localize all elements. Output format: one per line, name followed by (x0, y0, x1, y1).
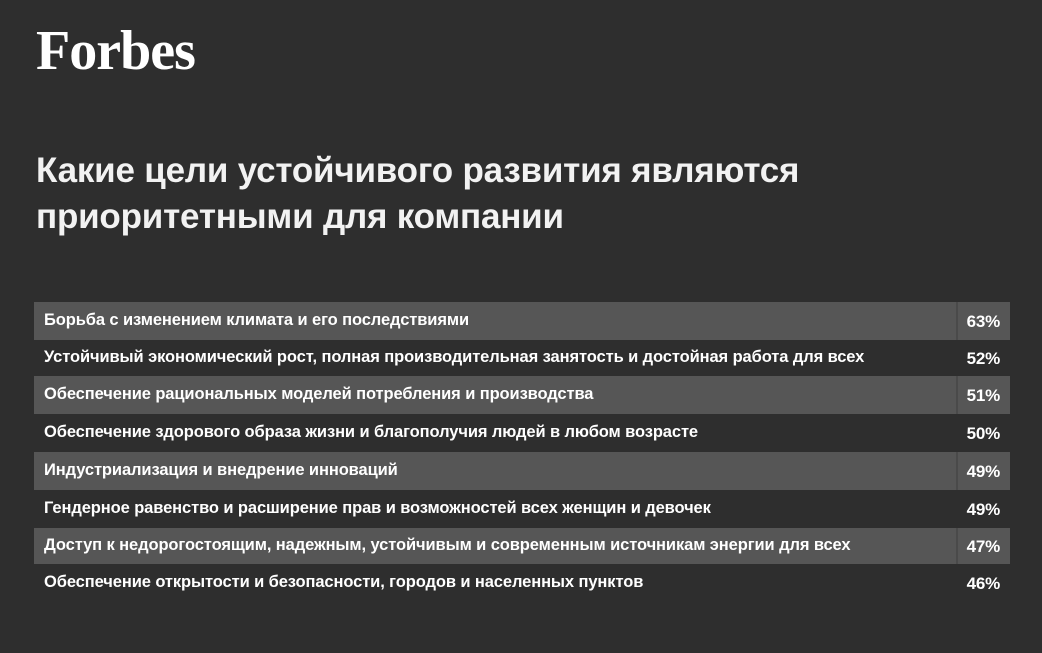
row-value: 51% (956, 376, 1010, 414)
row-label: Обеспечение здорового образа жизни и бла… (34, 414, 956, 452)
table-row: Гендерное равенство и расширение прав и … (34, 490, 1010, 528)
row-value: 49% (956, 490, 1010, 528)
infographic-page: Forbes Какие цели устойчивого развития я… (0, 0, 1042, 653)
priorities-table: Борьба с изменением климата и его послед… (34, 302, 1010, 602)
table-row: Обеспечение открытости и безопасности, г… (34, 564, 1010, 602)
row-label: Обеспечение рациональных моделей потребл… (34, 376, 956, 414)
row-label: Обеспечение открытости и безопасности, г… (34, 564, 956, 602)
table-row: Индустриализация и внедрение инноваций 4… (34, 452, 1010, 490)
row-value: 47% (956, 528, 1010, 564)
table-row: Обеспечение здорового образа жизни и бла… (34, 414, 1010, 452)
row-label: Доступ к недорогостоящим, надежным, усто… (34, 528, 956, 564)
table-row: Борьба с изменением климата и его послед… (34, 302, 1010, 340)
row-value: 49% (956, 452, 1010, 490)
page-title: Какие цели устойчивого развития являются… (36, 148, 936, 240)
row-value: 50% (956, 414, 1010, 452)
row-label: Индустриализация и внедрение инноваций (34, 452, 956, 490)
forbes-logo: Forbes (36, 20, 195, 82)
table-row: Устойчивый экономический рост, полная пр… (34, 340, 1010, 376)
row-value: 63% (956, 302, 1010, 340)
table-row: Доступ к недорогостоящим, надежным, усто… (34, 528, 1010, 564)
row-label: Борьба с изменением климата и его послед… (34, 302, 956, 340)
row-label: Устойчивый экономический рост, полная пр… (34, 340, 956, 376)
row-value: 46% (956, 564, 1010, 602)
row-label: Гендерное равенство и расширение прав и … (34, 490, 956, 528)
table-row: Обеспечение рациональных моделей потребл… (34, 376, 1010, 414)
row-value: 52% (956, 340, 1010, 376)
